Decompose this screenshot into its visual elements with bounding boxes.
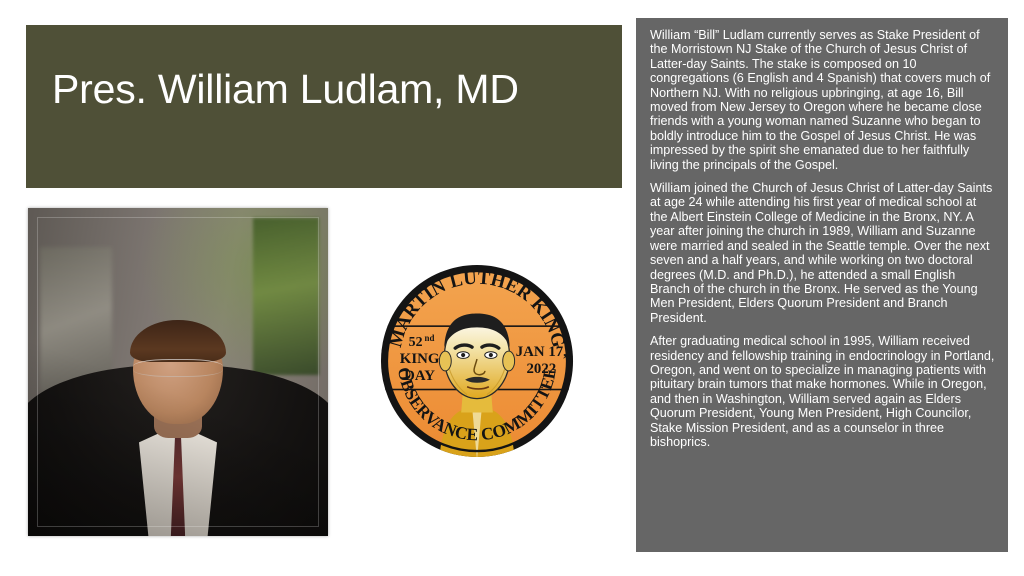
mlk-observance-committee-logo: MARTIN LUTHER KING OBSERVANCE COMMITTEE … <box>378 262 576 460</box>
emblem-day-label: DAY <box>404 368 435 384</box>
title-block: Pres. William Ludlam, MD <box>26 25 622 188</box>
portrait-photo <box>28 208 328 536</box>
emblem-ordinal-number: 52 <box>409 334 423 349</box>
bio-paragraph-1: William “Bill” Ludlam currently serves a… <box>650 28 996 172</box>
biography-panel: William “Bill” Ludlam currently serves a… <box>636 18 1008 552</box>
emblem-date-line-1: JAN 17, <box>516 344 567 360</box>
emblem-date-line-2: 2022 <box>527 361 557 377</box>
bio-paragraph-2: William joined the Church of Jesus Chris… <box>650 181 996 325</box>
bio-paragraph-3: After graduating medical school in 1995,… <box>650 334 996 449</box>
page-title: Pres. William Ludlam, MD <box>52 67 519 112</box>
emblem-king-label: KING <box>400 351 440 367</box>
emblem-ordinal-suffix: nd <box>425 333 435 343</box>
photo-vignette <box>28 208 328 536</box>
